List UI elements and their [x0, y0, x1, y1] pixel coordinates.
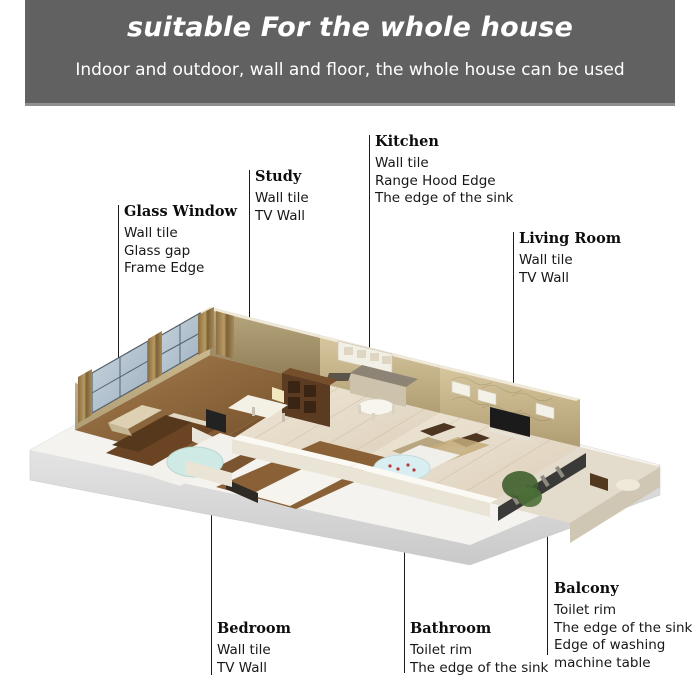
floor-plan-illustration [20, 255, 680, 585]
callout-item: Wall tile [217, 642, 291, 660]
callout-glass-window: Glass Window Wall tile Glass gap Frame E… [124, 203, 237, 278]
callout-item: TV Wall [255, 208, 309, 226]
callout-title: Kitchen [375, 133, 513, 151]
callout-title: Balcony [554, 580, 692, 598]
callout-item: Range Hood Edge [375, 173, 513, 191]
callout-item: The edge of the sink [554, 620, 692, 638]
callout-item: Wall tile [124, 225, 237, 243]
callout-kitchen: Kitchen Wall tile Range Hood Edge The ed… [375, 133, 513, 208]
callout-living-room: Living Room Wall tile TV Wall [519, 230, 621, 287]
callout-title: Bedroom [217, 620, 291, 638]
callout-item: Toilet rim [410, 642, 548, 660]
callout-item: Wall tile [375, 155, 513, 173]
callout-item: Frame Edge [124, 260, 237, 278]
banner-subtitle: Indoor and outdoor, wall and floor, the … [25, 60, 675, 80]
callout-balcony: Balcony Toilet rim The edge of the sink … [554, 580, 692, 672]
callout-study: Study Wall tile TV Wall [255, 168, 309, 225]
callout-title: Study [255, 168, 309, 186]
callout-item: TV Wall [217, 660, 291, 678]
callout-item: Edge of washing machine table [554, 637, 674, 672]
banner-title: suitable For the whole house [25, 12, 675, 43]
callout-title: Glass Window [124, 203, 237, 221]
callout-bedroom: Bedroom Wall tile TV Wall [217, 620, 291, 677]
callout-title: Living Room [519, 230, 621, 248]
callout-item: Toilet rim [554, 602, 692, 620]
callout-bathroom: Bathroom Toilet rim The edge of the sink [410, 620, 548, 677]
callout-item: Wall tile [255, 190, 309, 208]
callout-item: The edge of the sink [410, 660, 548, 678]
header-banner: suitable For the whole house Indoor and … [25, 0, 675, 106]
callout-item: Wall tile [519, 252, 621, 270]
callout-item: Glass gap [124, 243, 237, 261]
callout-item: TV Wall [519, 270, 621, 288]
callout-title: Bathroom [410, 620, 548, 638]
callout-item: The edge of the sink [375, 190, 513, 208]
